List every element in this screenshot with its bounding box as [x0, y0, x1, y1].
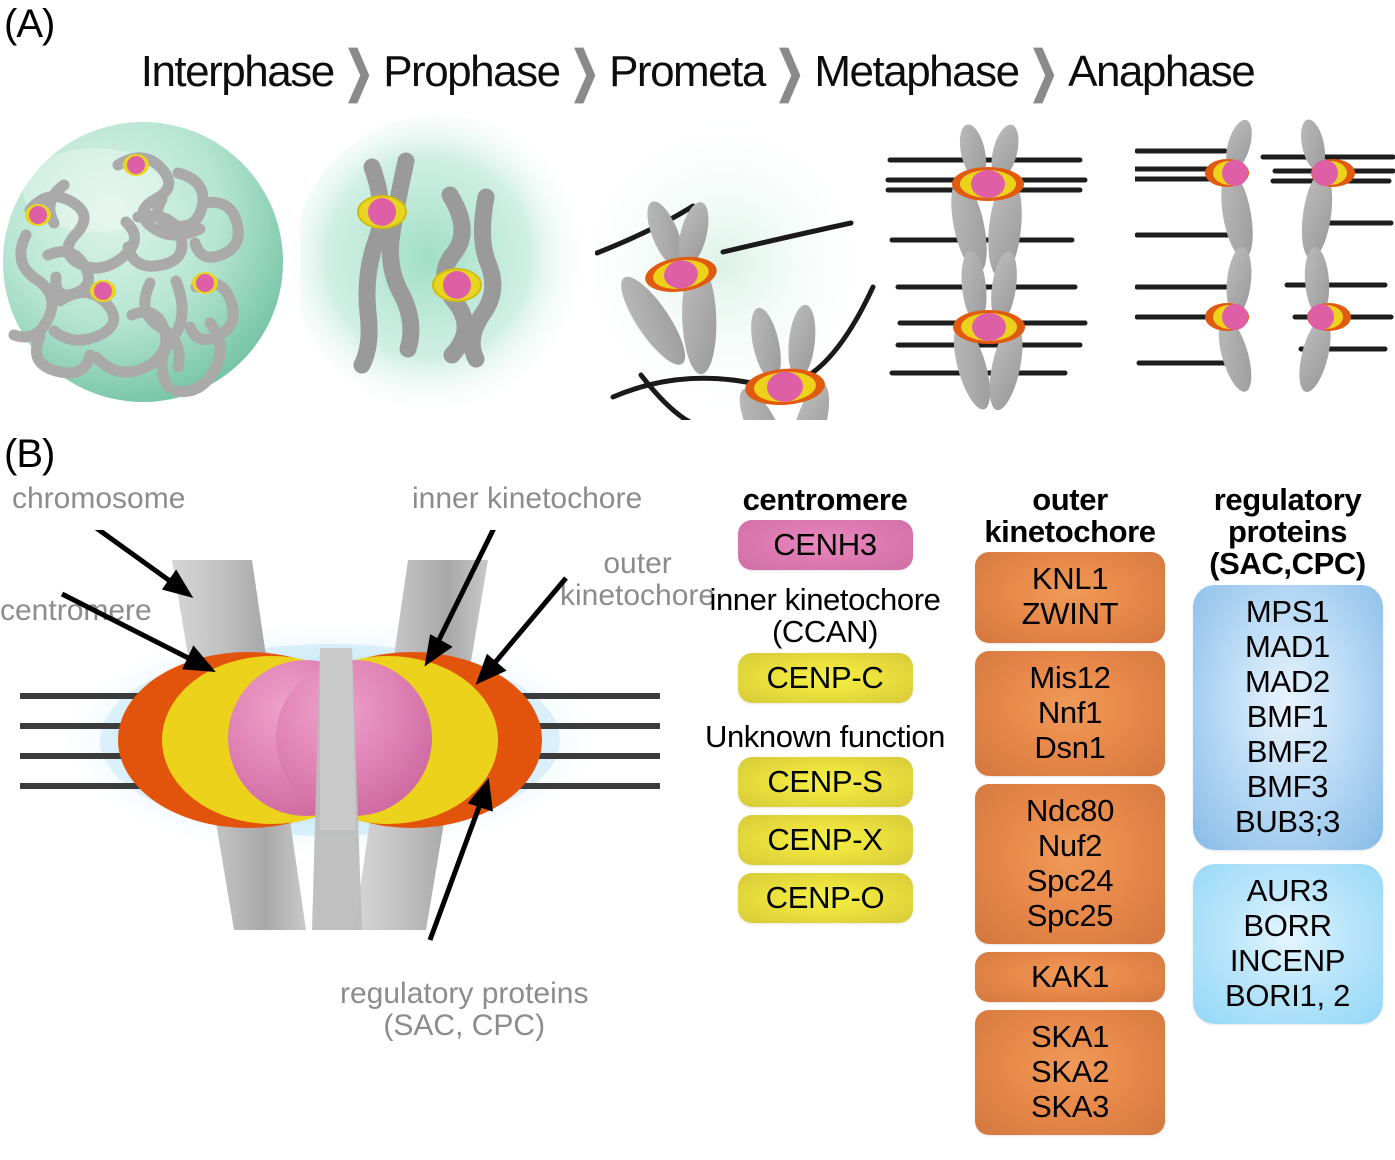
cell-cycle-stage-header-row: Interphase ❯ Prophase ❯ Prometa ❯ Metaph… [0, 42, 1395, 102]
stage-label-anaphase: Anaphase [1068, 47, 1254, 97]
legend-heading-inner-kinetochore: inner kinetochore (CCAN) [700, 584, 950, 648]
legend-group-regulatory: MPS1 MAD1 MAD2 BMF1 BMF2 BMF3 BUB3;3 AUR… [1180, 585, 1395, 1024]
chevron-right-icon: ❯ [1028, 45, 1058, 99]
chevron-right-icon: ❯ [343, 45, 373, 99]
legend-column-regulatory-proteins: regulatory proteins (SAC,CPC) MPS1 MAD1 … [1180, 484, 1395, 1032]
legend-heading-unknown-function: Unknown function [700, 721, 950, 753]
protein-pill-cenp-s[interactable]: CENP-S [738, 757, 913, 807]
prophase-chromosomes-icon [300, 105, 600, 420]
interphase-nucleus-icon [0, 105, 300, 420]
legend-heading-outer-kinetochore: outer kinetochore [960, 484, 1180, 548]
legend-group-outer: KNL1 ZWINT Mis12 Nnf1 Dsn1 Ndc80 Nuf2 Sp… [960, 552, 1180, 1134]
chevron-right-icon: ❯ [569, 45, 599, 99]
stage-label-interphase: Interphase [141, 47, 334, 97]
protein-pill-ska-complex[interactable]: SKA1 SKA2 SKA3 [975, 1010, 1165, 1135]
protein-pill-cenp-c[interactable]: CENP-C [738, 653, 913, 703]
chromatid [1293, 246, 1351, 395]
legend-heading-centromere: centromere [700, 484, 950, 516]
chevron-right-icon: ❯ [775, 45, 805, 99]
protein-pill-cpc[interactable]: AUR3 BORR INCENP BORI1, 2 [1193, 864, 1383, 1024]
chromatid [1205, 246, 1258, 395]
anaphase-chromatids-icon [1135, 105, 1395, 420]
protein-pill-ndc80-complex[interactable]: Ndc80 Nuf2 Spc24 Spc25 [975, 784, 1165, 944]
panel-b-label: (B) [4, 432, 54, 477]
protein-pill-mis12-complex[interactable]: Mis12 Nnf1 Dsn1 [975, 651, 1165, 776]
legend-group-ccan: CENP-C [700, 653, 950, 703]
legend-column-centromere: centromere CENH3 inner kinetochore (CCAN… [700, 484, 950, 931]
protein-pill-kak1[interactable]: KAK1 [975, 952, 1165, 1002]
chromatid [1297, 117, 1355, 260]
panel-a-label: (A) [4, 2, 54, 47]
chromosome [944, 122, 1026, 279]
protein-pill-sac[interactable]: MPS1 MAD1 MAD2 BMF1 BMF2 BMF3 BUB3;3 [1193, 585, 1383, 850]
legend-column-outer-kinetochore: outer kinetochore KNL1 ZWINT Mis12 Nnf1 … [960, 484, 1180, 1143]
callout-label-regulatory-proteins: regulatory proteins (SAC, CPC) [340, 978, 588, 1041]
protein-pill-cenh3[interactable]: CENH3 [738, 520, 913, 570]
microtubule [1135, 151, 1393, 363]
callout-label-chromosome: chromosome [12, 483, 185, 515]
figure-root: (A) Interphase ❯ Prophase ❯ Prometa ❯ Me… [0, 0, 1395, 1160]
legend-heading-regulatory-proteins: regulatory proteins (SAC,CPC) [1180, 484, 1395, 581]
stage-label-metaphase: Metaphase [814, 47, 1018, 97]
chromatid [1205, 117, 1258, 261]
protein-pill-cenp-o[interactable]: CENP-O [738, 873, 913, 923]
stage-label-prophase: Prophase [383, 47, 559, 97]
chromosome [946, 250, 1028, 413]
legend-group-unknown-function: CENP-S CENP-X CENP-O [700, 757, 950, 923]
callout-label-inner-kinetochore: inner kinetochore [412, 483, 642, 515]
prometaphase-chromosomes-icon [595, 105, 895, 420]
protein-pill-cenp-x[interactable]: CENP-X [738, 815, 913, 865]
metaphase-chromosomes-icon [880, 105, 1135, 420]
legend-group-cenh3: CENH3 [700, 520, 950, 570]
stage-label-prometa: Prometa [609, 47, 765, 97]
kinetochore-schematic [20, 530, 660, 950]
protein-pill-knl1-zwint[interactable]: KNL1 ZWINT [975, 552, 1165, 642]
